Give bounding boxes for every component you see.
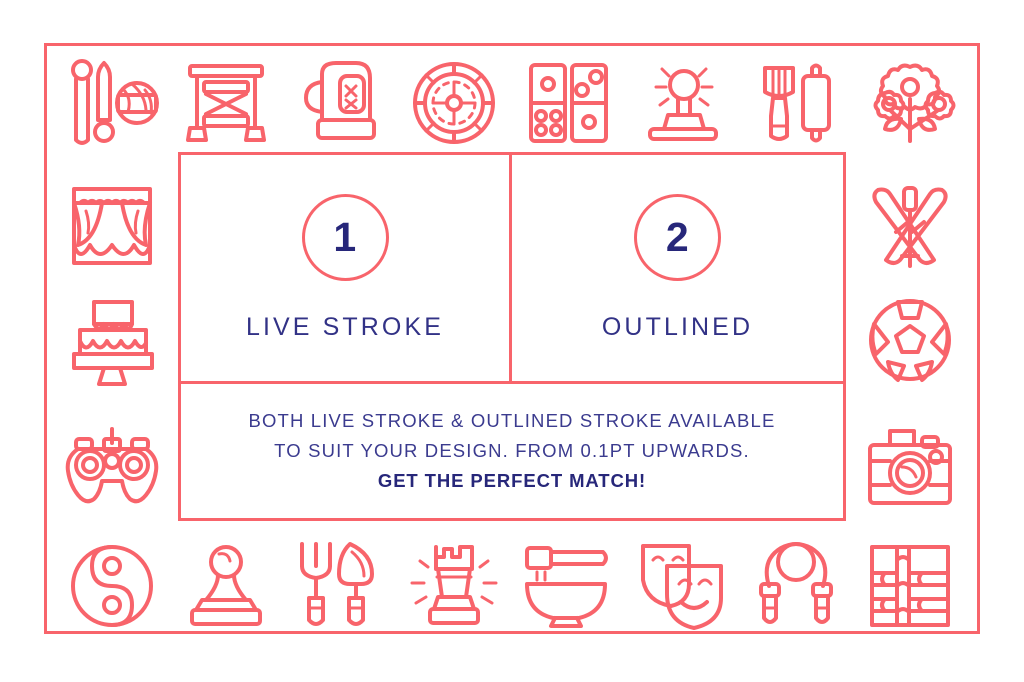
icon-dominoes: [518, 55, 618, 151]
option-1-label: LIVE STROKE: [246, 313, 444, 342]
icon-chess-rook: [404, 538, 504, 634]
icon-joystick-buzzer: [632, 55, 732, 151]
icon-roulette-wheel: [404, 55, 504, 151]
icon-jigsaw-puzzle: [860, 538, 960, 634]
icon-theater-masks: [632, 538, 732, 634]
blurb-line-1: BOTH LIVE STROKE & OUTLINED STROKE AVAIL…: [249, 406, 776, 436]
icon-camera: [860, 420, 960, 516]
icon-jump-rope: [746, 538, 846, 634]
center-panel: 1 LIVE STROKE 2 OUTLINED BOTH LIVE STROK…: [178, 152, 846, 521]
icon-flower-bouquet: [860, 55, 960, 151]
option-2-badge: 2: [634, 194, 721, 281]
icon-yin-yang: [62, 538, 162, 634]
option-2-label: OUTLINED: [602, 313, 753, 342]
icon-fence-hurdle: [176, 55, 276, 151]
icon-spatula-rolling-pin: [746, 55, 846, 151]
icon-knitting-needles-yarn: [62, 55, 162, 151]
icon-garden-fork-trowel: [290, 538, 390, 634]
icon-crossed-skis: [860, 178, 960, 274]
panel-options-row: 1 LIVE STROKE 2 OUTLINED: [181, 155, 843, 381]
icon-theater-curtains: [62, 178, 162, 274]
option-live-stroke[interactable]: 1 LIVE STROKE: [181, 155, 512, 381]
icon-game-controller: [62, 420, 162, 516]
icon-chess-pawn: [176, 538, 276, 634]
option-1-number: 1: [333, 217, 356, 258]
option-2-number: 2: [666, 217, 689, 258]
blurb-line-3: GET THE PERFECT MATCH!: [378, 466, 646, 496]
blurb-line-2: TO SUIT YOUR DESIGN. FROM 0.1PT UPWARDS.: [274, 436, 750, 466]
option-1-badge: 1: [302, 194, 389, 281]
panel-blurb: BOTH LIVE STROKE & OUTLINED STROKE AVAIL…: [181, 384, 843, 518]
icon-oven-mitt: [290, 55, 390, 151]
icon-soccer-ball: [860, 292, 960, 388]
icon-tiered-cake: [62, 292, 162, 388]
option-outlined[interactable]: 2 OUTLINED: [512, 155, 843, 381]
poster-canvas: 1 LIVE STROKE 2 OUTLINED BOTH LIVE STROK…: [0, 0, 1024, 682]
icon-mixing-bowl-spatula: [518, 538, 618, 634]
